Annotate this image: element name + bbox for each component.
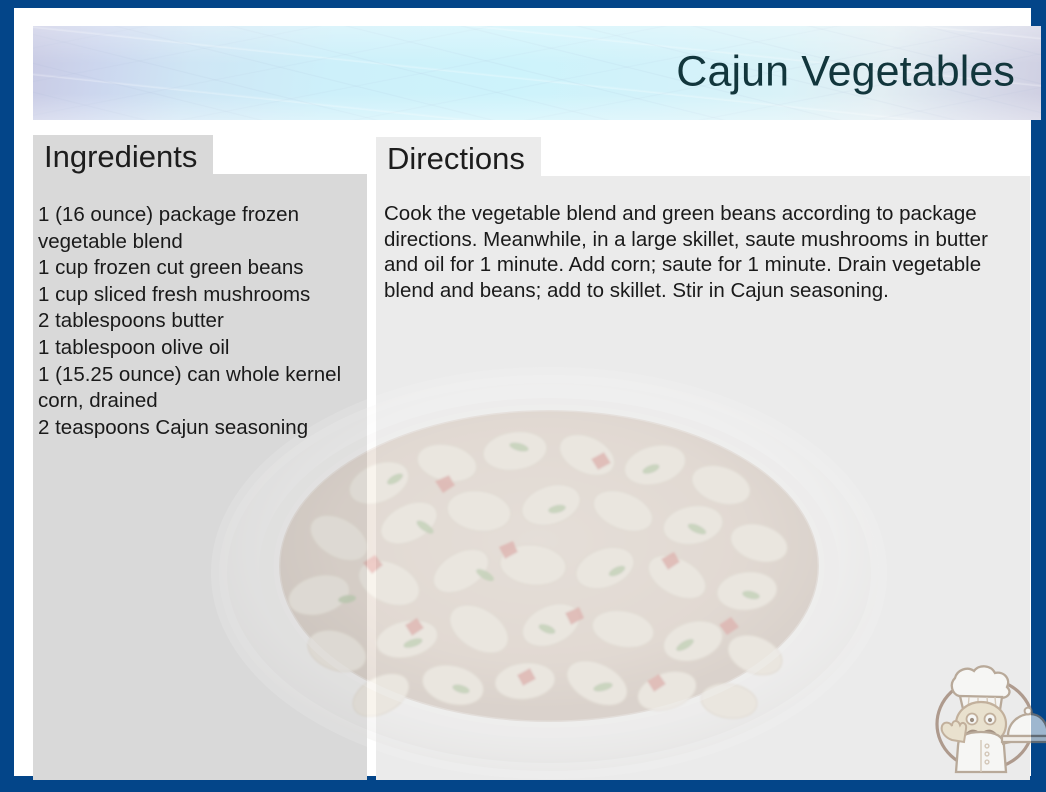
list-item: 1 (16 ounce) package frozen vegetable bl… xyxy=(38,202,359,255)
list-item: 1 cup frozen cut green beans xyxy=(38,255,359,282)
recipe-card: Cajun Vegetables Ingredients Directions … xyxy=(0,0,1046,792)
ingredients-panel: 1 (16 ounce) package frozen vegetable bl… xyxy=(33,174,367,780)
list-item: 2 teaspoons Cajun seasoning xyxy=(38,415,359,442)
ingredients-list: 1 (16 ounce) package frozen vegetable bl… xyxy=(33,174,367,441)
directions-text: Cook the vegetable blend and green beans… xyxy=(376,176,1030,303)
list-item: 1 tablespoon olive oil xyxy=(38,335,359,362)
page-surface: Cajun Vegetables Ingredients Directions … xyxy=(14,8,1031,776)
list-item: 1 cup sliced fresh mushrooms xyxy=(38,282,359,309)
page-title: Cajun Vegetables xyxy=(676,51,1015,94)
list-item: 2 tablespoons butter xyxy=(38,308,359,335)
list-item: 1 (15.25 ounce) can whole kernel corn, d… xyxy=(38,362,359,415)
header-banner: Cajun Vegetables xyxy=(33,26,1041,120)
directions-panel: Cook the vegetable blend and green beans… xyxy=(376,176,1030,780)
